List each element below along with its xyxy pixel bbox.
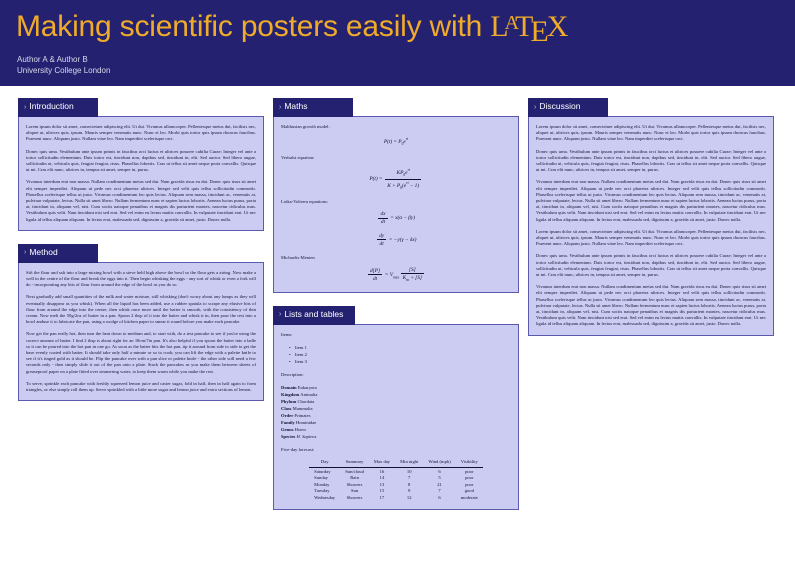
cell-max-day: 15 [369, 488, 395, 495]
description-def: Mammalia [293, 406, 313, 411]
block-body-method: Sift the flour and salt into a large mix… [18, 262, 264, 401]
cell-summary: Sun [340, 488, 369, 495]
equation-label-malthus: Malthusian growth model: [281, 124, 511, 130]
description-row: Genus Homo [281, 426, 511, 433]
description-term: Domain [281, 385, 297, 390]
cell-day: Monday [309, 482, 340, 489]
paragraph: Donec quis urna. Vestibulum ante ipsum p… [536, 149, 766, 174]
description-def: Homo [295, 427, 306, 432]
equation-label-verhulst: Verhulst equation: [281, 155, 511, 161]
column-right: ›Discussion Lorem ipsum dolor sit amet, … [528, 96, 774, 347]
cell-max-day: 14 [369, 475, 395, 482]
description-list: Domain Eukaryota Kingdom Animalia Phylum… [281, 384, 511, 440]
description-row: Kingdom Animalia [281, 391, 511, 398]
description-def: H. Sapiens [296, 434, 316, 439]
list-item: Item 2 [290, 351, 511, 358]
description-term: Family [281, 420, 295, 425]
cell-wind: 21 [423, 482, 455, 489]
cell-wind: 5 [423, 475, 455, 482]
equation-lotka-2: dydt=−y(γ−δx) [281, 233, 511, 247]
paragraph: Donec quis urna. Vestibulum ante ipsum p… [536, 253, 766, 278]
block-maths: ›Maths Malthusian growth model: P(t)=P0e… [273, 96, 519, 293]
description-row: Family Hominidae [281, 419, 511, 426]
cell-max-day: 17 [369, 495, 395, 502]
cell-min-night: 10 [395, 467, 423, 475]
cell-wind: 6 [423, 495, 455, 502]
description-term: Kingdom [281, 392, 299, 397]
cell-summary: Rain [340, 475, 369, 482]
block-discussion: ›Discussion Lorem ipsum dolor sit amet, … [528, 96, 774, 336]
description-row: Species H. Sapiens [281, 433, 511, 440]
description-row: Class Mammalia [281, 405, 511, 412]
block-head-maths: ›Maths [273, 98, 353, 117]
cell-max-day: 16 [369, 467, 395, 475]
latex-logo: LATEX [490, 10, 580, 47]
cell-summary: Showers [340, 482, 369, 489]
chevron-right-icon: › [279, 104, 281, 113]
cell-day: Sunday [309, 475, 340, 482]
paragraph: Vivamus interdum erat non massa. Nullam … [536, 179, 766, 222]
cell-min-night: 12 [395, 495, 423, 502]
cell-wind: 6 [423, 467, 455, 475]
block-title-method: Method [29, 247, 57, 257]
description-term: Phylum [281, 399, 296, 404]
description-term: Genus [281, 427, 294, 432]
block-body-lists-and-tables: Items: Item 1 Item 2 Item 3 Description:… [273, 324, 519, 510]
column-header-day: Day [309, 459, 340, 467]
table-body: Saturday Sun/cloud 16 10 6 poor Sunday R… [309, 467, 483, 501]
cell-wind: 7 [423, 488, 455, 495]
cell-visibility: poor [456, 475, 483, 482]
cell-min-night: 8 [395, 482, 423, 489]
description-lead: Description: [281, 372, 511, 378]
cell-visibility: good [456, 488, 483, 495]
block-body-introduction: Lorem ipsum dolor sit amet, consectetuer… [18, 116, 264, 231]
forecast-table: Day Summary Max day Min night Wind (mph)… [309, 459, 483, 501]
latex-logo-x: X [547, 10, 569, 43]
paragraph: To serve, sprinkle each pancake with fre… [26, 381, 256, 393]
chevron-right-icon: › [279, 311, 281, 320]
items-list: Item 1 Item 2 Item 3 [281, 344, 511, 365]
equation-label-michaelis: Michaelis-Menten [281, 255, 511, 261]
description-row: Phylum Chordata [281, 398, 511, 405]
description-def: Eukaryota [298, 385, 317, 390]
block-method: ›Method Sift the flour and salt into a l… [18, 242, 264, 401]
chevron-right-icon: › [24, 104, 26, 113]
equation-malthus: P(t)=P0ert [281, 136, 511, 147]
paragraph: Lorem ipsum dolor sit amet, consectetuer… [536, 229, 766, 248]
paragraph: Lorem ipsum dolor sit amet, consectetuer… [26, 124, 256, 143]
description-def: Hominidae [296, 420, 316, 425]
paragraph: Donec quis urna. Vestibulum ante ipsum p… [26, 149, 256, 174]
block-introduction: ›Introduction Lorem ipsum dolor sit amet… [18, 96, 264, 231]
equation-verhulst: P(t)=KP0ertK+P0(ert−1) [281, 167, 511, 191]
table-row: Wednesday Showers 17 12 6 moderate [309, 495, 483, 502]
equation-label-lotka: Lotka-Volterra equations: [281, 199, 511, 205]
description-term: Species [281, 434, 295, 439]
table-row: Tuesday Sun 15 9 7 good [309, 488, 483, 495]
column-header-visibility: Visibility [456, 459, 483, 467]
table-row: Sunday Rain 14 7 5 poor [309, 475, 483, 482]
cell-visibility: poor [456, 482, 483, 489]
block-title-lists-and-tables: Lists and tables [284, 309, 343, 319]
cell-max-day: 13 [369, 482, 395, 489]
block-head-introduction: ›Introduction [18, 98, 98, 117]
chevron-right-icon: › [534, 104, 536, 113]
poster-body: ›Introduction Lorem ipsum dolor sit amet… [0, 86, 795, 561]
cell-visibility: poor [456, 467, 483, 475]
column-header-summary: Summary [340, 459, 369, 467]
poster-header: Making scientific posters easily with LA… [0, 0, 795, 86]
table-header-row: Day Summary Max day Min night Wind (mph)… [309, 459, 483, 467]
description-def: Chordata [297, 399, 314, 404]
paragraph: Sift the flour and salt into a large mix… [26, 270, 256, 289]
block-body-maths: Malthusian growth model: P(t)=P0ert Verh… [273, 116, 519, 293]
cell-day: Wednesday [309, 495, 340, 502]
authors-line: Author A & Author B [17, 54, 781, 65]
author-block: Author A & Author B University College L… [14, 54, 781, 76]
paragraph: Vivamus interdum erat non massa. Nullam … [536, 284, 766, 327]
list-item: Item 1 [290, 344, 511, 351]
cell-summary: Sun/cloud [340, 467, 369, 475]
block-lists-and-tables: ›Lists and tables Items: Item 1 Item 2 I… [273, 304, 519, 510]
table-row: Saturday Sun/cloud 16 10 6 poor [309, 467, 483, 475]
table-head: Day Summary Max day Min night Wind (mph)… [309, 459, 483, 467]
block-title-introduction: Introduction [29, 101, 73, 111]
paragraph: Next gradually add small quantities of t… [26, 294, 256, 325]
column-header-max-day: Max day [369, 459, 395, 467]
description-term: Class [281, 406, 291, 411]
latex-logo-e: E [530, 15, 548, 48]
cell-day: Saturday [309, 467, 340, 475]
paragraph: Vivamus interdum erat non massa. Nullam … [26, 179, 256, 222]
column-left: ›Introduction Lorem ipsum dolor sit amet… [18, 96, 264, 412]
cell-min-night: 9 [395, 488, 423, 495]
equation-michaelis: d[P]dt=Vmax[S]Km+[S] [281, 267, 511, 283]
list-item: Item 3 [290, 358, 511, 365]
cell-summary: Showers [340, 495, 369, 502]
description-row: Domain Eukaryota [281, 384, 511, 391]
block-head-method: ›Method [18, 244, 98, 263]
description-def: Animalia [300, 392, 317, 397]
paragraph: Now get the pan really hot, then turn th… [26, 331, 256, 374]
column-middle: ›Maths Malthusian growth model: P(t)=P0e… [273, 96, 519, 521]
description-row: Order Primates [281, 412, 511, 419]
chevron-right-icon: › [24, 249, 26, 258]
cell-visibility: moderate [456, 495, 483, 502]
description-term: Order [281, 413, 293, 418]
table-row: Monday Showers 13 8 21 poor [309, 482, 483, 489]
paragraph: Lorem ipsum dolor sit amet, consectetuer… [536, 124, 766, 143]
column-header-min-night: Min night [395, 459, 423, 467]
table-lead: Five-day forecast: [281, 447, 511, 453]
cell-min-night: 7 [395, 475, 423, 482]
page-title: Making scientific posters easily with LA… [14, 10, 781, 47]
block-title-discussion: Discussion [539, 101, 580, 111]
block-body-discussion: Lorem ipsum dolor sit amet, consectetuer… [528, 116, 774, 336]
cell-day: Tuesday [309, 488, 340, 495]
description-def: Primates [294, 413, 310, 418]
equation-lotka-1: dxdt=x(α−βy) [281, 211, 511, 225]
items-lead: Items: [281, 332, 511, 338]
column-header-wind: Wind (mph) [423, 459, 455, 467]
block-head-lists-and-tables: ›Lists and tables [273, 306, 355, 325]
page-title-text: Making scientific posters easily with [16, 10, 490, 43]
block-title-maths: Maths [284, 101, 307, 111]
block-head-discussion: ›Discussion [528, 98, 608, 117]
poster-columns: ›Introduction Lorem ipsum dolor sit amet… [0, 96, 795, 521]
affiliation-line: University College London [17, 65, 781, 76]
